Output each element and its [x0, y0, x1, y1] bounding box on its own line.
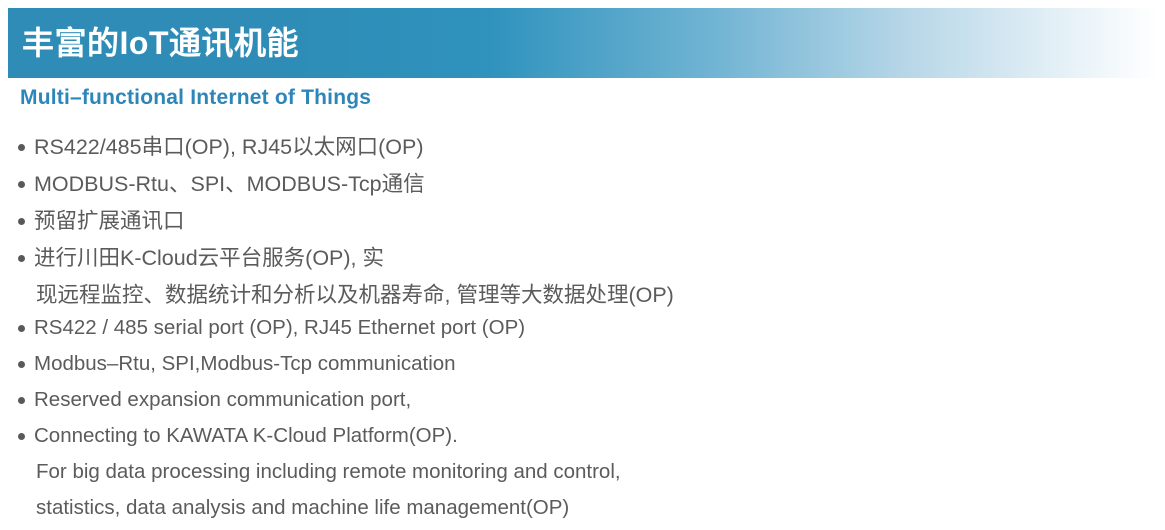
bullet-icon: [18, 314, 34, 342]
list-item-label: Connecting to KAWATA K-Cloud Platform(OP…: [34, 422, 1148, 450]
list-item-label: 进行川田K-Cloud云平台服务(OP), 实: [34, 244, 1148, 272]
bullet-icon: [18, 422, 34, 450]
list-item: RS422/485串口(OP), RJ45以太网口(OP): [18, 133, 1148, 170]
subtitle: Multi–functional Internet of Things: [20, 86, 371, 110]
header-banner: 丰富的IoT通讯机能: [8, 8, 1157, 78]
bullet-icon: [18, 133, 34, 161]
list-item: RS422 / 485 serial port (OP), RJ45 Ether…: [18, 314, 1148, 350]
list-item-continuation: 现远程监控、数据统计和分析以及机器寿命, 管理等大数据处理(OP): [18, 281, 1148, 317]
bullet-icon: [18, 350, 34, 378]
list-item-label: 现远程监控、数据统计和分析以及机器寿命, 管理等大数据处理(OP): [36, 281, 1148, 317]
list-item-label: Modbus–Rtu, SPI,Modbus-Tcp communication: [34, 350, 1148, 378]
page-title: 丰富的IoT通讯机能: [8, 27, 299, 59]
list-item-label: statistics, data analysis and machine li…: [36, 494, 1148, 530]
indent-spacer: [18, 281, 36, 317]
list-item: MODBUS-Rtu、SPI、MODBUS-Tcp通信: [18, 170, 1148, 207]
list-item: 进行川田K-Cloud云平台服务(OP), 实: [18, 244, 1148, 281]
list-item-label: 预留扩展通讯口: [34, 207, 1148, 235]
bullet-icon: [18, 386, 34, 414]
list-item: Reserved expansion communication port,: [18, 386, 1148, 422]
list-item-continuation: statistics, data analysis and machine li…: [18, 494, 1148, 530]
bullet-icon: [18, 244, 34, 272]
list-item: 预留扩展通讯口: [18, 207, 1148, 244]
list-item-label: RS422/485串口(OP), RJ45以太网口(OP): [34, 133, 1148, 161]
list-item-label: Reserved expansion communication port,: [34, 386, 1148, 414]
list-item-label: For big data processing including remote…: [36, 458, 1148, 494]
list-item: Modbus–Rtu, SPI,Modbus-Tcp communication: [18, 350, 1148, 386]
bullet-icon: [18, 207, 34, 235]
list-item: Connecting to KAWATA K-Cloud Platform(OP…: [18, 422, 1148, 458]
list-item-label: RS422 / 485 serial port (OP), RJ45 Ether…: [34, 314, 1148, 342]
indent-spacer: [18, 494, 36, 530]
indent-spacer: [18, 458, 36, 494]
feature-list-chinese: RS422/485串口(OP), RJ45以太网口(OP) MODBUS-Rtu…: [18, 133, 1148, 317]
bullet-icon: [18, 170, 34, 198]
feature-list-english: RS422 / 485 serial port (OP), RJ45 Ether…: [18, 314, 1148, 530]
list-item-label: MODBUS-Rtu、SPI、MODBUS-Tcp通信: [34, 170, 1148, 198]
slide-root: 丰富的IoT通讯机能 Multi–functional Internet of …: [0, 0, 1165, 530]
list-item-continuation: For big data processing including remote…: [18, 458, 1148, 494]
